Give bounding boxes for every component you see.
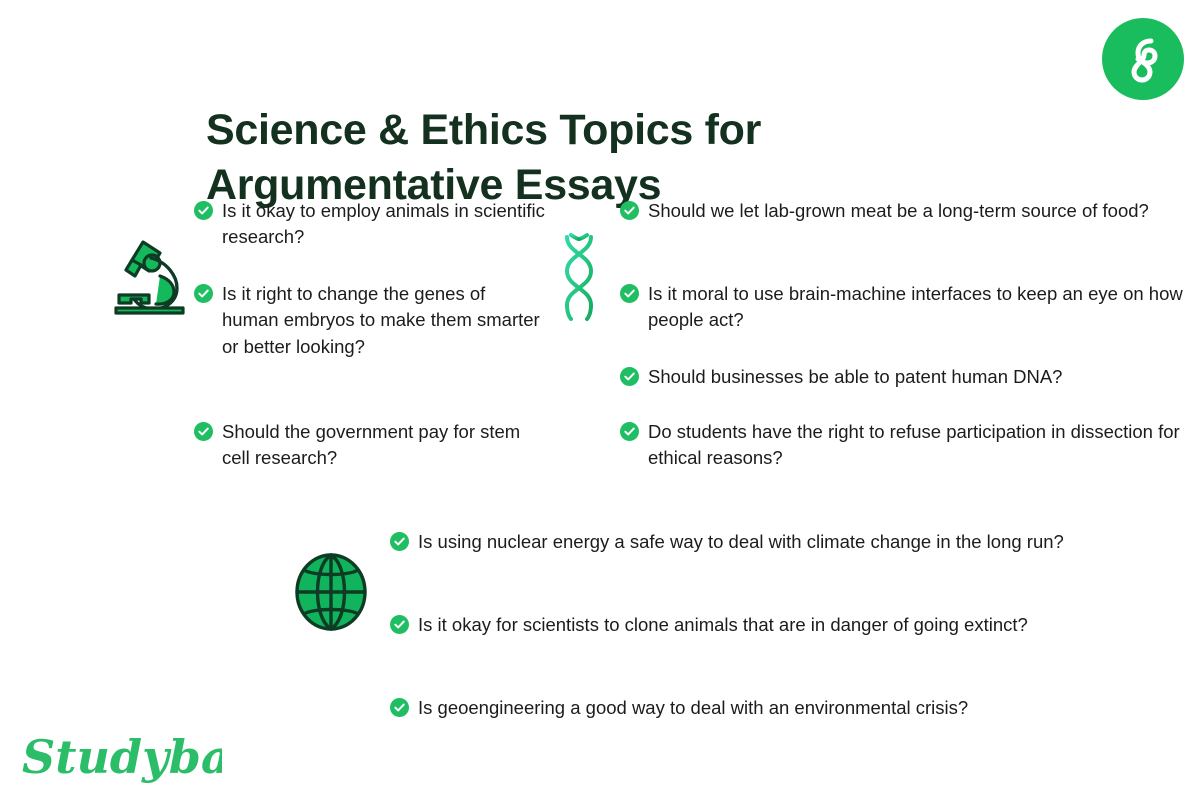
studybay-badge: [1102, 18, 1184, 100]
list-item: Should we let lab-grown meat be a long-t…: [620, 198, 1190, 224]
check-circle-icon: [620, 367, 639, 386]
check-circle-icon: [390, 698, 409, 717]
check-circle-icon: [194, 201, 213, 220]
list-item-text: Is geoengineering a good way to deal wit…: [418, 695, 968, 721]
list-item-text: Is it okay to employ animals in scientif…: [222, 198, 546, 251]
check-circle-icon: [194, 284, 213, 303]
list-item-text: Is using nuclear energy a safe way to de…: [418, 529, 1064, 555]
list-item-text: Do students have the right to refuse par…: [648, 419, 1180, 472]
list-item: Is it okay to employ animals in scientif…: [194, 198, 546, 251]
page-title: Science & Ethics Topics for Argumentativ…: [206, 103, 846, 213]
list-item: Is it okay for scientists to clone anima…: [390, 612, 1120, 638]
list-item: Should the government pay for stem cell …: [194, 419, 546, 472]
list-item: Is it moral to use brain-machine interfa…: [620, 281, 1190, 334]
studybay-wordmark: Studybay: [22, 733, 222, 787]
check-circle-icon: [620, 284, 639, 303]
list-item-text: Is it okay for scientists to clone anima…: [418, 612, 1028, 638]
list-item-text: Should businesses be able to patent huma…: [648, 364, 1062, 390]
list-item: Do students have the right to refuse par…: [620, 419, 1180, 472]
list-item: Is it right to change the genes of human…: [194, 281, 546, 360]
list-item-text: Is it moral to use brain-machine interfa…: [648, 281, 1190, 334]
check-circle-icon: [390, 615, 409, 634]
check-circle-icon: [620, 422, 639, 441]
check-circle-icon: [620, 201, 639, 220]
studybay-wordmark-text: Studybay: [22, 733, 222, 784]
page-title-line-1: Science & Ethics Topics for: [206, 103, 846, 158]
check-circle-icon: [390, 532, 409, 551]
globe-icon: [293, 552, 369, 632]
check-circle-icon: [194, 422, 213, 441]
list-item: Should businesses be able to patent huma…: [620, 364, 1190, 390]
list-item: Is geoengineering a good way to deal wit…: [390, 695, 1120, 721]
list-item-text: Should we let lab-grown meat be a long-t…: [648, 198, 1149, 224]
list-item-text: Should the government pay for stem cell …: [222, 419, 546, 472]
microscope-icon: [105, 232, 189, 318]
list-item: Is using nuclear energy a safe way to de…: [390, 529, 1120, 555]
studybay-monogram-icon: [1121, 33, 1165, 85]
list-item-text: Is it right to change the genes of human…: [222, 281, 546, 360]
dna-helix-icon: [554, 231, 604, 323]
